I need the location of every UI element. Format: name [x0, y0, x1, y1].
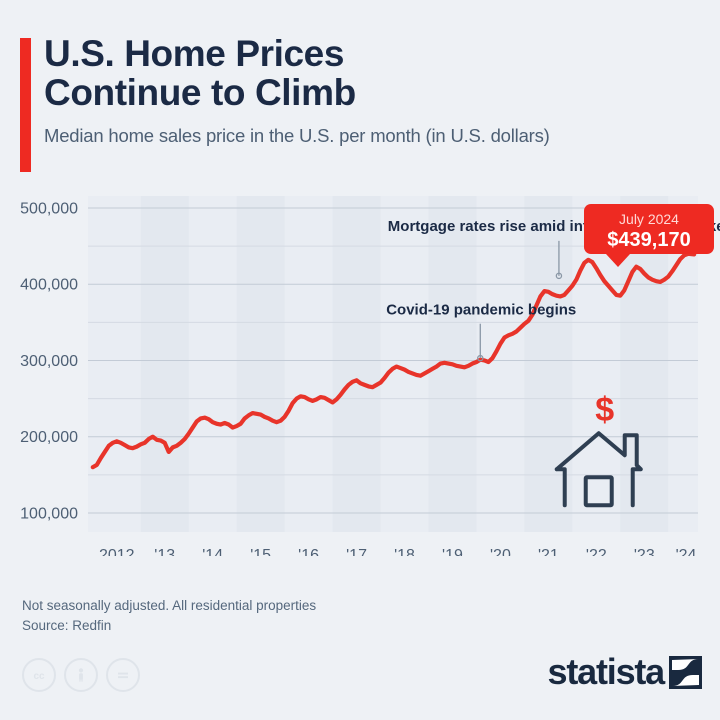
y-axis-label: 100,000: [20, 505, 78, 522]
y-axis-label: 300,000: [20, 353, 78, 370]
title-block: U.S. Home Prices Continue to Climb Media…: [20, 34, 710, 147]
footer-bar: cc statista: [0, 658, 720, 710]
cc-nd-equals-icon: [106, 658, 140, 692]
x-axis-label: '20: [490, 547, 511, 556]
y-axis-label: 500,000: [20, 201, 78, 218]
x-axis-label: '16: [298, 547, 319, 556]
svg-text:cc: cc: [33, 671, 45, 682]
infographic-root: U.S. Home Prices Continue to Climb Media…: [0, 0, 720, 720]
callout-date-label: July 2024: [619, 211, 679, 227]
y-axis-ticks: 100,000200,000300,000400,000500,000: [20, 201, 78, 523]
accent-bar: [20, 38, 31, 172]
creative-commons-icons: cc: [22, 658, 140, 692]
header: U.S. Home Prices Continue to Climb Media…: [20, 34, 710, 147]
y-axis-label: 200,000: [20, 429, 78, 446]
cc-icon: cc: [22, 658, 56, 692]
x-axis-label: '24: [676, 547, 697, 556]
footnote-source: Source: Redfin: [22, 616, 316, 636]
x-axis-label: '15: [250, 547, 271, 556]
dollar-sign-icon: $: [595, 391, 614, 429]
page-subtitle: Median home sales price in the U.S. per …: [44, 125, 710, 147]
footnotes: Not seasonally adjusted. All residential…: [22, 596, 316, 636]
statista-mark-glyph: [669, 656, 702, 689]
x-axis-label: 2012: [99, 547, 135, 556]
x-axis-label: '18: [394, 547, 415, 556]
cc-glyph: cc: [29, 665, 49, 685]
statista-wordmark: statista: [548, 654, 664, 690]
x-axis-label: '13: [154, 547, 175, 556]
x-axis-label: '19: [442, 547, 463, 556]
person-glyph: [71, 665, 91, 685]
page-title-line1: U.S. Home Prices: [44, 34, 710, 73]
x-axis-label: '14: [202, 547, 223, 556]
x-axis-label: '23: [634, 547, 655, 556]
statista-logo: statista: [548, 654, 702, 690]
x-axis-label: '22: [586, 547, 607, 556]
equals-glyph: [113, 665, 133, 685]
annotation-covid: Covid-19 pandemic begins: [386, 302, 576, 319]
chart-container: 100,000200,000300,000400,000500,000 2012…: [0, 196, 720, 556]
callout-value-label: $439,170: [607, 229, 690, 251]
x-axis-ticks: 2012'13'14'15'16'17'18'19'20'21'22'23'24: [99, 547, 697, 556]
cc-by-person-icon: [64, 658, 98, 692]
footnote-line1: Not seasonally adjusted. All residential…: [22, 596, 316, 616]
x-axis-label: '17: [346, 547, 367, 556]
page-title-line2: Continue to Climb: [44, 73, 710, 112]
x-axis-label: '21: [538, 547, 559, 556]
line-chart: 100,000200,000300,000400,000500,000 2012…: [0, 196, 720, 556]
y-axis-label: 400,000: [20, 277, 78, 294]
statista-logo-mark: [669, 656, 702, 689]
